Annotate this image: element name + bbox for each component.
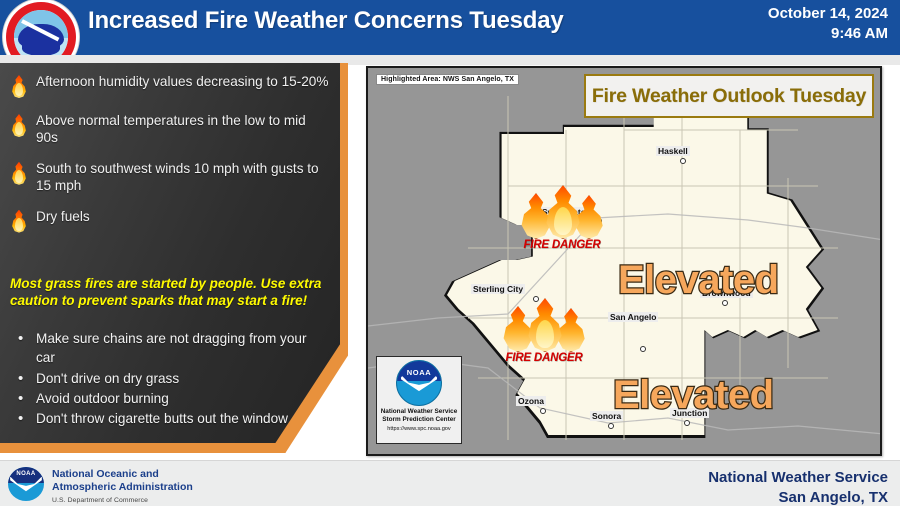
list-item: Don't throw cigarette butts out the wind… [14, 409, 326, 428]
flame-icon [8, 160, 30, 186]
flame-icon [496, 298, 592, 352]
noaa-footer-logo-icon: NOAA [8, 467, 44, 501]
header-time: 9:46 AM [768, 24, 888, 44]
conditions-bullet-list: Afternoon humidity values decreasing to … [8, 72, 330, 246]
city-dot-icon [680, 158, 686, 164]
fire-danger-badge-south: FIRE DANGER [496, 298, 592, 372]
outlook-title-text: Fire Weather Outlook Tuesday [592, 85, 866, 108]
header-date: October 14, 2024 [768, 4, 888, 24]
flame-icon [8, 208, 30, 234]
noaa-wordmark: NOAA [397, 368, 441, 377]
spc-credit-box: NOAA National Weather Service Storm Pred… [376, 356, 462, 444]
list-item: Afternoon humidity values decreasing to … [8, 72, 330, 99]
spc-line-1: National Weather Service [377, 408, 461, 416]
header-datetime: October 14, 2024 9:46 AM [768, 4, 888, 45]
city-dot-icon [640, 346, 646, 352]
fire-danger-badge-north: FIRE DANGER [514, 185, 610, 259]
footer-office-line-1: National Weather Service [708, 468, 888, 488]
safety-tips-list: Make sure chains are not dragging from y… [14, 329, 326, 429]
footer-office: National Weather Service San Angelo, TX [708, 468, 888, 507]
bullet-text: Above normal temperatures in the low to … [36, 111, 330, 147]
fire-danger-label: FIRE DANGER [496, 352, 592, 364]
list-item: Don't drive on dry grass [14, 369, 326, 388]
fire-weather-outlook-map: Highlighted Area: NWS San Angelo, TX Fir… [366, 66, 882, 456]
city-label: Ozona [516, 396, 546, 406]
outlook-title-box: Fire Weather Outlook Tuesday [584, 74, 874, 118]
page-title: Increased Fire Weather Concerns Tuesday [88, 7, 564, 35]
noaa-logo-icon: NOAA [396, 360, 442, 406]
footer-office-line-2: San Angelo, TX [708, 488, 888, 507]
highlighted-area-label: Highlighted Area: NWS San Angelo, TX [376, 74, 519, 85]
page-header: Increased Fire Weather Concerns Tuesday … [0, 0, 900, 55]
footer-agency-line-2: Atmospheric Administration [52, 481, 193, 494]
list-item: Avoid outdoor burning [14, 389, 326, 408]
list-item: Make sure chains are not dragging from y… [14, 329, 326, 368]
risk-label-elevated-south: Elevated [613, 373, 774, 418]
spc-url[interactable]: https://www.spc.noaa.gov [377, 426, 461, 432]
list-item: Above normal temperatures in the low to … [8, 111, 330, 147]
bullet-text: Dry fuels [36, 207, 90, 225]
flame-icon [514, 185, 610, 239]
bullet-text: South to southwest winds 10 mph with gus… [36, 159, 330, 195]
page-footer: NOAA National Oceanic and Atmospheric Ad… [0, 460, 900, 506]
caution-message: Most grass fires are started by people. … [10, 275, 328, 309]
city-label: San Angelo [608, 312, 658, 322]
city-label: Sterling City [471, 284, 525, 294]
city-dot-icon [684, 420, 690, 426]
spc-line-2: Storm Prediction Center [377, 416, 461, 424]
flame-icon [8, 112, 30, 138]
flame-icon [8, 73, 30, 99]
list-item: Dry fuels [8, 207, 330, 234]
footer-agency: National Oceanic and Atmospheric Adminis… [52, 468, 193, 506]
list-item: South to southwest winds 10 mph with gus… [8, 159, 330, 195]
footer-agency-line-1: National Oceanic and [52, 468, 193, 481]
fire-danger-label: FIRE DANGER [514, 239, 610, 251]
footer-department: U.S. Department of Commerce [52, 497, 193, 506]
bullet-text: Afternoon humidity values decreasing to … [36, 72, 328, 90]
city-dot-icon [608, 423, 614, 429]
city-label: Haskell [656, 146, 690, 156]
conditions-panel: Afternoon humidity values decreasing to … [0, 63, 356, 457]
noaa-wordmark: NOAA [8, 471, 44, 477]
risk-label-elevated-north: Elevated [618, 258, 779, 303]
city-dot-icon [540, 408, 546, 414]
